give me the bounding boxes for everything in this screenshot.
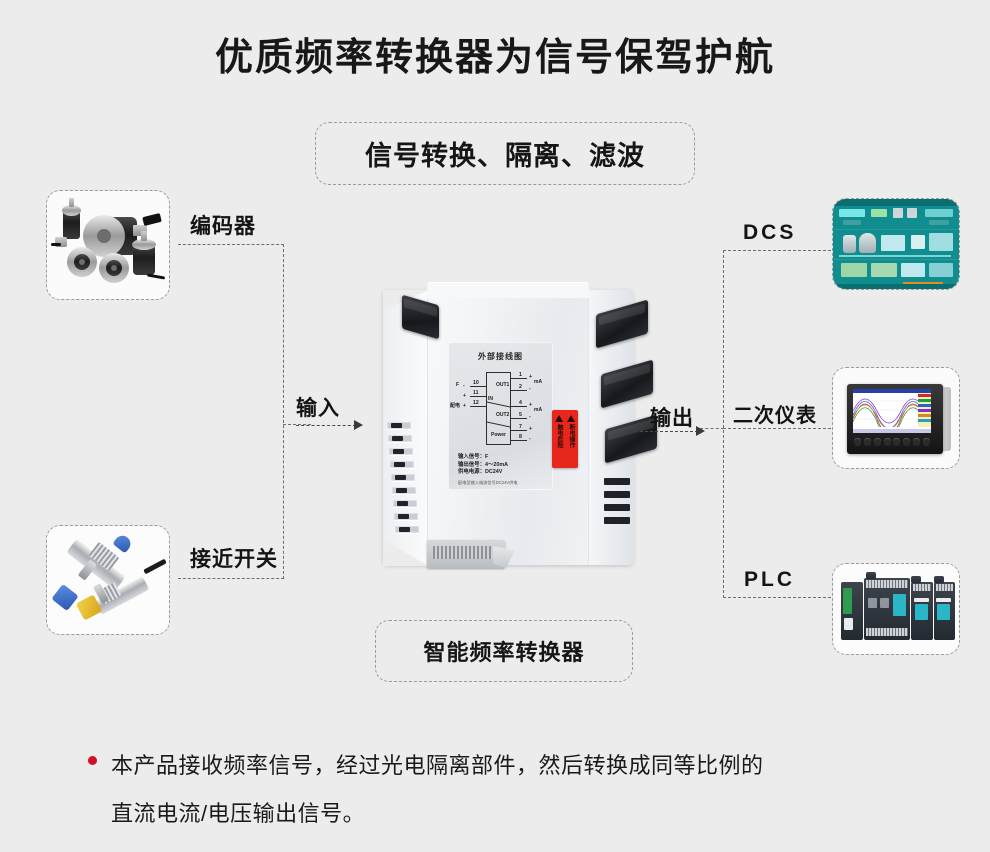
description-line-2: 直流电流/电压输出信号。: [111, 790, 764, 838]
terminal-number-8: 8: [519, 434, 522, 440]
plc-module-photo: [833, 564, 959, 654]
wiring-tag-in: IN: [488, 396, 493, 402]
encoder-photo: [47, 191, 169, 299]
wiring-tag-out2: OUT2: [496, 412, 509, 418]
connector-secondary-horizontal: [723, 428, 831, 429]
terminal-number-5: 5: [519, 412, 522, 418]
terminal-number-1: 1: [519, 372, 522, 378]
wiring-unit-out2: mA: [534, 407, 542, 413]
terminal-sign-4: +: [529, 402, 532, 408]
proximity-switch-photo: [47, 526, 169, 634]
bullet-dot-icon: [88, 756, 97, 765]
source-label-proximity-switch: 接近开关: [190, 543, 278, 573]
destination-label-plc: PLC: [744, 568, 795, 592]
poster-canvas: 优质频率转换器为信号保驾护航 信号转换、隔离、滤波: [0, 0, 990, 852]
terminal-sign-11: +: [463, 393, 466, 399]
warning-triangle-icon-2: [567, 415, 575, 422]
wiring-tag-out1: OUT1: [496, 382, 509, 388]
description-block: 本产品接收频率信号，经过光电隔离部件，然后转换成同等比例的 直流电流/电压输出信…: [88, 742, 948, 838]
terminal-sign-8: -: [529, 436, 531, 442]
warning-triangle-icon: [555, 415, 563, 422]
terminal-name-f: F: [456, 382, 459, 388]
wiring-tag-power: Power: [491, 432, 506, 438]
connector-proximity-horizontal: [178, 578, 284, 579]
output-arrow: [640, 424, 712, 438]
warning-text-left: 触电危险: [555, 424, 563, 448]
connector-left-vertical: [283, 244, 284, 579]
terminal-number-11: 11: [473, 390, 478, 396]
terminal-number-2: 2: [519, 384, 522, 390]
device-specs: 输入信号：F 输出信号：4～20mA 供电电源：DC24V 配电型输入电流信号D…: [458, 454, 548, 486]
device-caption-box: 智能频率转换器: [375, 620, 633, 682]
connector-encoder-horizontal: [178, 244, 284, 245]
terminal-number-12: 12: [473, 400, 479, 406]
secondary-instrument-image-frame: [832, 367, 960, 469]
connector-dcs-horizontal: [723, 250, 831, 251]
dcs-screen-photo: [833, 199, 959, 289]
connector-plc-horizontal: [723, 597, 831, 598]
spec-input-signal: 输入信号：F: [458, 454, 548, 462]
wiring-unit-out1: mA: [534, 379, 542, 385]
input-arrow: [296, 418, 368, 432]
dcs-image-frame: [832, 198, 960, 290]
warning-sticker: 触电危险 断电操作: [552, 410, 578, 468]
terminal-sign-2: -: [529, 386, 531, 392]
page-title: 优质频率转换器为信号保驾护航: [0, 26, 990, 81]
encoder-image-frame: [46, 190, 170, 300]
terminal-number-10: 10: [473, 380, 479, 386]
terminal-sign-5: -: [529, 414, 531, 420]
warning-text-right: 断电操作: [567, 424, 575, 448]
spec-power-supply: 供电电源：DC24V: [458, 469, 548, 477]
subtitle-text: 信号转换、隔离、滤波: [365, 134, 645, 173]
wiring-diagram-title: 外部接线图: [448, 351, 553, 362]
terminal-sign-12: +: [463, 403, 466, 409]
connector-right-vertical: [723, 250, 724, 598]
terminal-sign-10: -: [463, 383, 465, 389]
description-line-1: 本产品接收频率信号，经过光电隔离部件，然后转换成同等比例的: [111, 742, 764, 790]
terminal-number-7: 7: [519, 424, 522, 430]
subtitle-box: 信号转换、隔离、滤波: [315, 122, 695, 185]
terminal-number-4: 4: [519, 400, 522, 406]
spec-note: 配电型输入电流信号DC24V供电: [458, 479, 548, 487]
paperless-recorder-photo: [833, 368, 959, 468]
frequency-converter-device: 外部接线图 10 11 12 - + + F 配电: [363, 282, 653, 572]
device-label-plate: 外部接线图 10 11 12 - + + F 配电: [448, 342, 553, 490]
terminal-sign-7: +: [529, 426, 532, 432]
device-top-edge: [427, 282, 589, 298]
plc-image-frame: [832, 563, 960, 655]
proximity-switch-image-frame: [46, 525, 170, 635]
wiring-diagram: 10 11 12 - + + F 配电 IN OUT1 1 2 + - mA O…: [456, 368, 545, 448]
terminal-sign-1: +: [529, 374, 532, 380]
source-label-encoder: 编码器: [190, 210, 256, 240]
device-caption-text: 智能频率转换器: [423, 635, 584, 667]
terminal-name-peidian: 配电: [450, 402, 460, 409]
destination-label-dcs: DCS: [743, 221, 796, 245]
destination-label-secondary-instrument: 二次仪表: [733, 399, 817, 428]
